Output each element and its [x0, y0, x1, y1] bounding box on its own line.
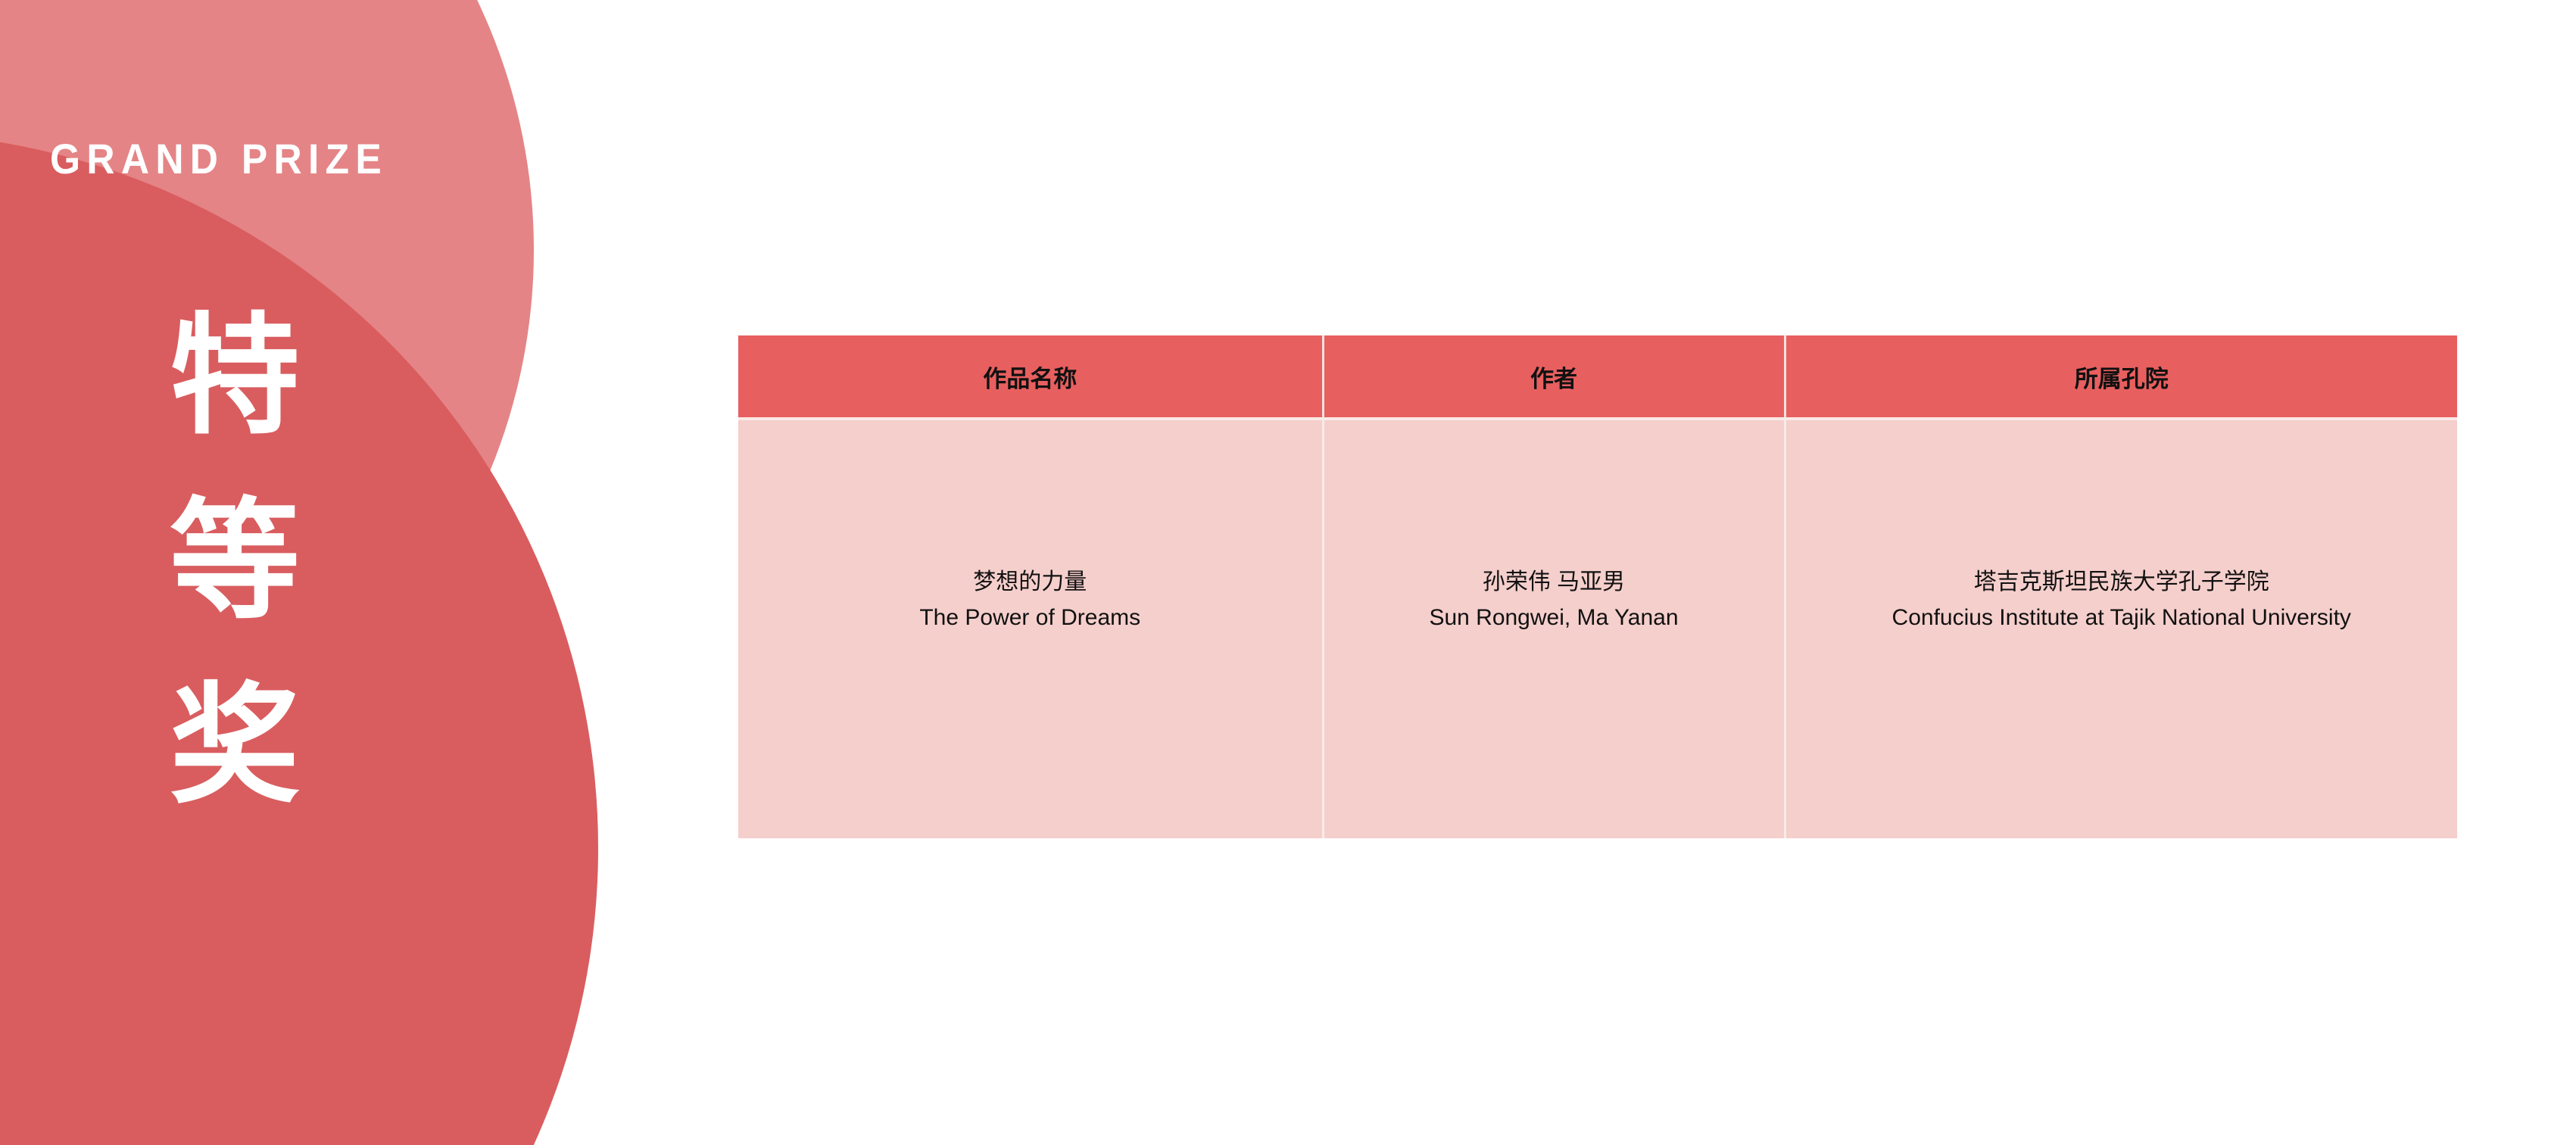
column-header-title: 作品名称: [738, 335, 1323, 419]
award-panel: GRAND PRIZE 特 等 奖: [0, 0, 606, 1145]
author-en: Sun Rongwei, Ma Yanan: [1350, 601, 1758, 636]
grand-prize-eyebrow: GRAND PRIZE: [50, 138, 388, 180]
column-header-author: 作者: [1323, 335, 1785, 419]
work-title-en: The Power of Dreams: [764, 601, 1296, 636]
winners-table: 作品名称 作者 所属孔院 梦想的力量 The Power of Dreams 孙…: [738, 335, 2457, 838]
author-cn: 孙荣伟 马亚男: [1350, 565, 1758, 601]
table-body: 梦想的力量 The Power of Dreams 孙荣伟 马亚男 Sun Ro…: [738, 419, 2457, 838]
table-header: 作品名称 作者 所属孔院: [738, 335, 2457, 419]
cell-work-title: 梦想的力量 The Power of Dreams: [738, 419, 1323, 838]
award-char-3: 奖: [140, 654, 329, 838]
institution-en: Confucius Institute at Tajik National Un…: [1812, 601, 2432, 636]
award-char-1: 特: [140, 284, 329, 469]
cell-institution: 塔吉克斯坦民族大学孔子学院 Confucius Institute at Taj…: [1785, 419, 2457, 838]
table-row: 梦想的力量 The Power of Dreams 孙荣伟 马亚男 Sun Ro…: [738, 419, 2457, 838]
work-title-cn: 梦想的力量: [764, 565, 1296, 601]
award-name-chinese: 特 等 奖: [140, 284, 329, 839]
table-header-row: 作品名称 作者 所属孔院: [738, 335, 2457, 419]
award-char-2: 等: [140, 469, 329, 654]
cell-author: 孙荣伟 马亚男 Sun Rongwei, Ma Yanan: [1323, 419, 1785, 838]
column-header-institution: 所属孔院: [1785, 335, 2457, 419]
institution-cn: 塔吉克斯坦民族大学孔子学院: [1812, 565, 2432, 601]
